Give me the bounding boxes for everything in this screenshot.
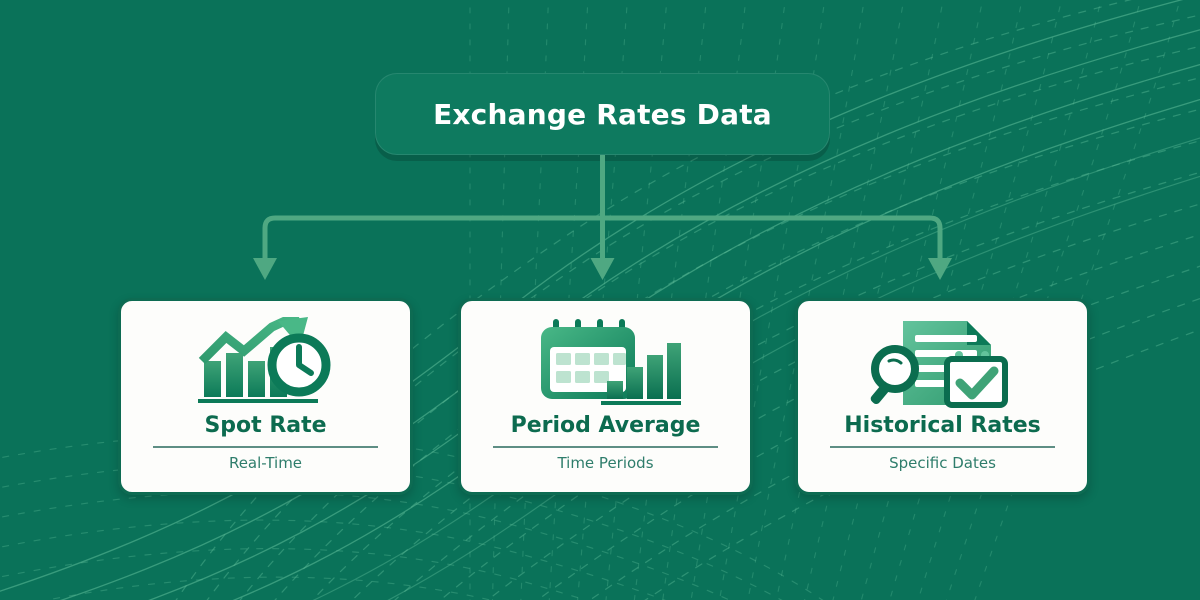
arrow-down-icon [591, 258, 615, 280]
card-subtitle: Time Periods [557, 456, 653, 471]
card-period-average[interactable]: Period Average Time Periods [458, 298, 753, 495]
diagram-canvas: Exchange Rates Data [0, 0, 1200, 600]
page-title: Exchange Rates Data [433, 98, 772, 131]
card-spot-rate[interactable]: Spot Rate Real-Time [118, 298, 413, 495]
bar-chart-trend-clock-icon [186, 313, 346, 413]
connector-bus [265, 218, 940, 262]
card-divider [493, 446, 718, 448]
card-historical-rates[interactable]: Historical Rates Specific Dates [795, 298, 1090, 495]
card-subtitle: Real-Time [229, 456, 302, 471]
card-subtitle: Specific Dates [889, 456, 996, 471]
card-title: Historical Rates [844, 415, 1040, 437]
calendar-bar-chart-icon [531, 313, 681, 413]
card-title: Period Average [511, 415, 701, 437]
card-title: Spot Rate [204, 415, 326, 437]
magnifier-document-calendar-check-icon [863, 313, 1023, 413]
arrow-down-icon [253, 258, 277, 280]
card-divider [153, 446, 378, 448]
card-divider [830, 446, 1055, 448]
diagram-root-node: Exchange Rates Data [375, 73, 830, 155]
arrow-down-icon [928, 258, 952, 280]
